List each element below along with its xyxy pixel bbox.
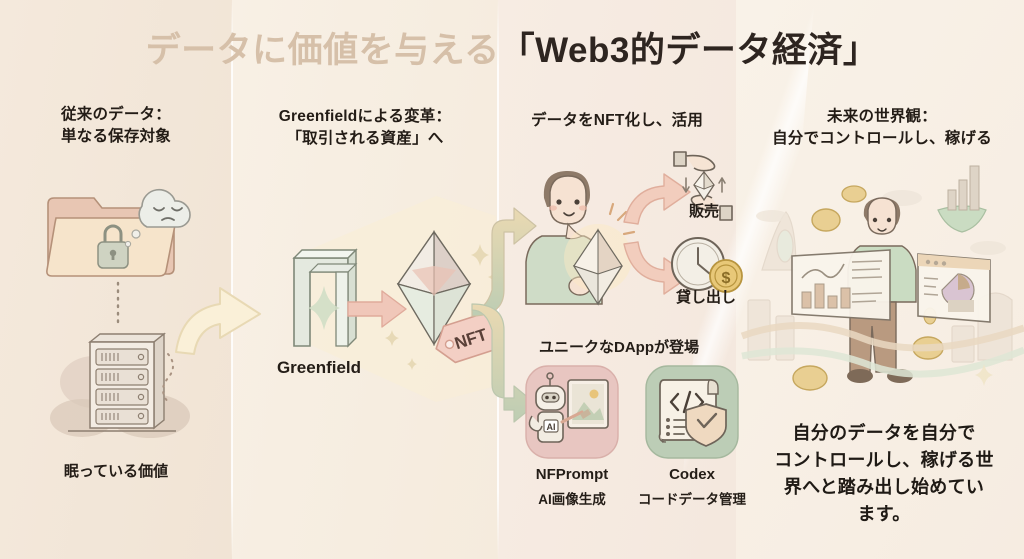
infographic-canvas: データに価値を与える「Web3的データ経済」 従来のデータ： 単なる保存対象: [0, 0, 1024, 559]
dapp-section-header: ユニークなDAppが登場: [506, 336, 732, 357]
future-scene-group: [742, 150, 1024, 412]
dapp-name-nfprompt: NFPrompt: [506, 466, 638, 483]
sparkle-icon: [308, 286, 340, 330]
code-scroll-shield-icon: [660, 380, 727, 446]
dapp-desc-codex: コードデータ管理: [620, 488, 764, 508]
future-vision-body: 自分のデータを自分で コントロールし、稼げる世 界へと踏み出し始めてい ます。: [760, 420, 1008, 528]
header-line-1: Greenfieldによる変革：: [240, 106, 490, 128]
panel-greenfield-header: Greenfieldによる変革： 「取引される資産」へ: [240, 106, 490, 151]
panel-nft-utilization-header: データをNFT化し、活用: [502, 110, 732, 132]
legacy-data-caption: 眠っている価値: [8, 460, 224, 481]
dapp-card-codex[interactable]: [644, 364, 740, 460]
svg-text:AI: AI: [547, 422, 556, 432]
header-line-1: データをNFT化し、活用: [502, 110, 732, 132]
header-line-1: 未来の世界観：: [744, 106, 1020, 128]
header-line-2: 単なる保存対象: [8, 126, 224, 148]
header-line-1: 従来のデータ：: [8, 104, 224, 126]
body-line-4: ます。: [857, 504, 910, 524]
svg-text:$: $: [722, 270, 731, 287]
greenfield-product-label: Greenfield: [244, 358, 394, 378]
dashboard-right-icon: [918, 254, 990, 322]
header-line-2: 「取引される資産」へ: [240, 128, 490, 150]
person-holding-crystal-group: [514, 158, 634, 308]
dashboard-left-icon: [792, 250, 890, 320]
arrow-legacy-to-greenfield: [168, 276, 278, 356]
dapp-name-codex: Codex: [628, 466, 756, 483]
floating-island-icon: [938, 166, 986, 232]
body-line-2: コントロールし、稼げる世: [774, 450, 994, 470]
folder-lock-cloud-group: [36, 172, 206, 292]
header-line-2: 自分でコントロールし、稼げる: [744, 128, 1020, 150]
title-soft-part: データに価値を与える: [146, 31, 500, 70]
outcome-label-sale: 販売: [654, 200, 754, 221]
body-line-3: 界へと踏み出し始めてい: [784, 477, 984, 497]
page-title: データに価値を与える「Web3的データ経済」: [0, 22, 1024, 73]
dapp-desc-nfprompt: AI画像生成: [506, 488, 638, 508]
body-line-1: 自分のデータを自分で: [793, 423, 976, 443]
dapp-card-nfprompt[interactable]: AI: [524, 364, 620, 460]
panel-future-vision-header: 未来の世界観： 自分でコントロールし、稼げる: [744, 106, 1020, 151]
title-hard-part: 「Web3的データ経済」: [500, 31, 879, 70]
panel-legacy-data-header: 従来のデータ： 単なる保存対象: [8, 104, 224, 149]
